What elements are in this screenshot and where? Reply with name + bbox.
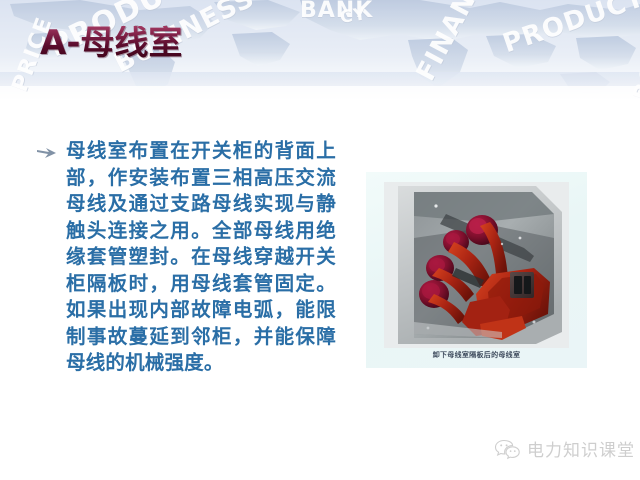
footer-watermark-text: 电力知识课堂: [527, 436, 635, 461]
slide-banner: PRODUCT BUSINESS BANK FINANCY PRODUCT PR…: [0, 0, 640, 100]
arrow-bullet-icon: [36, 146, 58, 160]
photo-caption: 卸下母线室隔板后的母线室: [366, 350, 587, 360]
content-bullet-block: 母线室布置在开关柜的背面上部，作安装布置三相高压交流母线及通过支路母线实现与静触…: [36, 138, 336, 377]
wechat-logo-icon: [494, 438, 520, 460]
page-title: A-母线室: [40, 26, 182, 60]
body-paragraph: 母线室布置在开关柜的背面上部，作安装布置三相高压交流母线及通过支路母线实现与静触…: [66, 138, 336, 377]
busbar-compartment-photo: [384, 182, 569, 348]
busbar-photo-graphic: [384, 182, 569, 348]
footer-watermark: 电力知识课堂: [494, 436, 635, 461]
photo-card: 卸下母线室隔板后的母线室: [366, 172, 587, 368]
slide-root: PRODUCT BUSINESS BANK FINANCY PRODUCT PR…: [0, 0, 640, 480]
